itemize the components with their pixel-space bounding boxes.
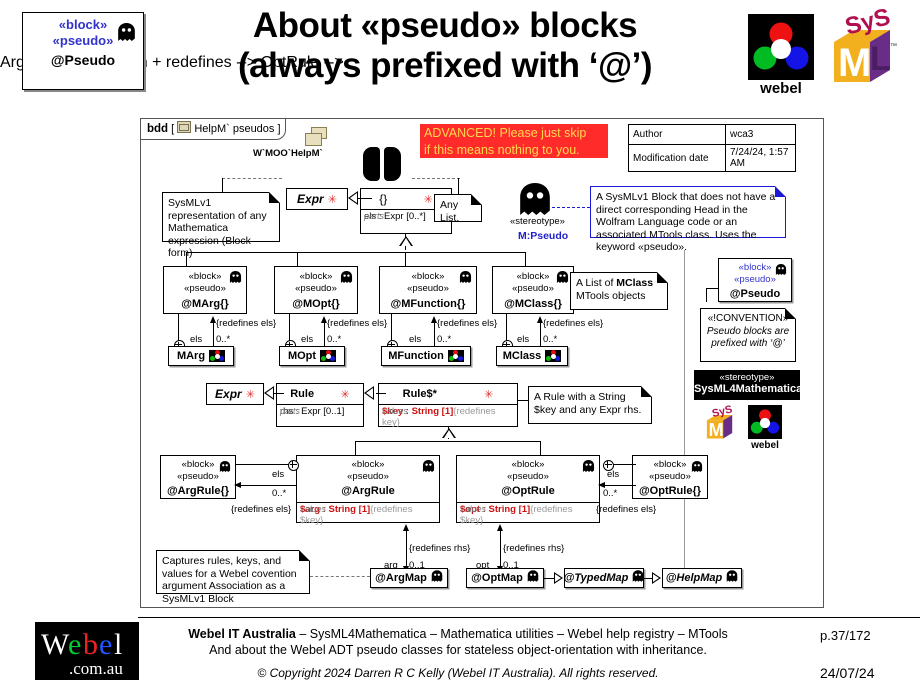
ghost-icon xyxy=(582,459,595,477)
gear-icon: ✳ xyxy=(484,388,493,401)
stereotype-block: «block» xyxy=(297,459,439,471)
webel-footer-logo: W e b e l .com.au xyxy=(35,622,139,680)
arrow-left-icon xyxy=(598,482,605,488)
webel-logo-label: webel xyxy=(748,80,814,97)
block-rule-key[interactable]: Rule$* ✳ values $key : String [1]{redefi… xyxy=(378,383,518,427)
edge-label-els: els xyxy=(409,334,421,345)
svg-text:l: l xyxy=(114,628,122,661)
compartment-label: values xyxy=(300,504,326,514)
edge-label-els: els xyxy=(301,334,313,345)
panel-divider xyxy=(684,250,685,570)
webel-mini-logo-icon xyxy=(320,350,336,362)
anchor-dash-any-list xyxy=(412,178,460,179)
block-name: @MClass{} xyxy=(493,298,573,311)
block-name: Expr xyxy=(297,192,324,206)
advanced-banner-line-1: ADVANCED! Please just skip xyxy=(424,125,604,142)
moo-model-icon xyxy=(305,127,327,147)
arrow-up-icon xyxy=(497,524,503,531)
note-argmap-description: Captures rules, keys, and values for a W… xyxy=(156,550,310,594)
class-name: MOpt xyxy=(288,350,316,362)
note-text: A Rule with a String $key and any Expr r… xyxy=(534,391,641,416)
footer-text: Webel IT Australia – SysML4Mathematica –… xyxy=(148,626,768,658)
stereotype-pseudo: «pseudo» xyxy=(457,471,599,483)
generalization-arrow-fill xyxy=(366,388,373,398)
generalization-branch xyxy=(297,252,298,266)
convention-text: Pseudo blocks are prefixed with ‘@’ xyxy=(706,326,790,351)
generalization-arrow-fill xyxy=(555,574,561,582)
class-mopt[interactable]: MOpt xyxy=(279,346,345,366)
sysml4mathematica-stereotype-badge: «stereotype» SysML4Mathematica xyxy=(694,370,800,400)
generalization-branch xyxy=(525,252,526,266)
edge-rule-to-expr xyxy=(274,393,284,394)
note-text-2: MTools objects xyxy=(576,290,645,302)
diagram-package-name: HelpM` pseudos xyxy=(194,123,274,135)
gear-icon: ✳ xyxy=(328,193,337,206)
bracket-close: ] xyxy=(277,123,280,135)
svg-text:™: ™ xyxy=(890,43,897,50)
legend-right-pseudo-block: «block» «pseudo» @Pseudo xyxy=(718,258,792,302)
webel-logo-label-small: webel xyxy=(744,440,786,451)
values-compartment: values $key : String [1]{redefines key} xyxy=(379,404,517,429)
note-mclass-list: A List of MClass MTools objects xyxy=(570,272,668,310)
legend-block-name: @Pseudo xyxy=(23,52,143,68)
block-name: @OptMap xyxy=(471,572,523,584)
modification-date-value: 7/24/24, 1:57 AM xyxy=(726,145,796,172)
block-optrule-list[interactable]: «block» «pseudo» @OptRule{} xyxy=(632,455,708,499)
class-mclass[interactable]: MClass xyxy=(496,346,568,366)
svg-text:W: W xyxy=(41,628,70,661)
edge-label-redefines-els: {redefines els} xyxy=(596,504,656,515)
generalization-branch xyxy=(186,252,187,266)
arrow-up-icon xyxy=(537,316,543,323)
moo-label: W`MOO`HelpM` xyxy=(253,148,323,159)
webel-logo-icon xyxy=(748,14,814,80)
generalization-branch xyxy=(405,252,406,266)
sysml-logo-icon: M L SyS ™ xyxy=(824,8,902,92)
edge-label-multiplicity: 0..* xyxy=(437,334,451,345)
diagram-kind: bdd xyxy=(147,123,168,135)
author-label: Author xyxy=(629,125,726,145)
block-mfunction-pseudo[interactable]: «block» «pseudo» @MFunction{} xyxy=(379,266,477,314)
brain-icon xyxy=(363,147,401,181)
document-date: 24/07/24 xyxy=(820,665,875,681)
block-rule[interactable]: Rule ✳ parts rhs : Expr [0..1] xyxy=(276,383,364,427)
block-expr-top[interactable]: Expr ✳ xyxy=(286,188,348,210)
block-name: @OptRule xyxy=(457,485,599,498)
stereotype-pseudo: «pseudo» xyxy=(297,471,439,483)
class-mfunction[interactable]: MFunction xyxy=(381,346,471,366)
webel-mini-logo-icon xyxy=(209,350,225,362)
note-rule-description: A Rule with a String $key and any Expr r… xyxy=(528,386,652,424)
ghost-icon xyxy=(726,569,738,587)
webel-mini-logo-icon xyxy=(545,350,561,362)
edge-label-els: els xyxy=(272,469,284,480)
note-text-bold: MClass xyxy=(616,277,653,289)
stereotype-label: «stereotype» xyxy=(510,216,565,227)
footer-subjects: – SysML4Mathematica – Mathematica utilit… xyxy=(296,627,728,641)
sysml-logo-icon-small: M SyS xyxy=(700,405,740,443)
redefines-rhs-line xyxy=(500,528,501,570)
block-optrule[interactable]: «block» «pseudo» @OptRule values $opt : … xyxy=(456,455,600,523)
class-name: MClass xyxy=(503,350,542,362)
edge-label-redefines-els: {redefines els} xyxy=(231,504,291,515)
anchor-line xyxy=(518,400,528,401)
block-name: @HelpMap xyxy=(666,572,723,584)
generalization-arrow-fill xyxy=(653,574,659,582)
block-argrule-list[interactable]: «block» «pseudo» @ArgRule{} xyxy=(160,455,236,499)
block-marg-pseudo[interactable]: «block» «pseudo» @MArg{} xyxy=(163,266,247,314)
webel-logo-icon-small xyxy=(748,405,782,439)
ghost-icon xyxy=(556,270,569,288)
diagram-metadata-table: Author wca3 Modification date 7/24/24, 1… xyxy=(628,124,796,172)
ghost-icon xyxy=(632,569,644,587)
edge-label-redefines-rhs: {redefines rhs} xyxy=(503,543,564,554)
legend-connector xyxy=(706,288,718,289)
pseudo-block-legend: «block» «pseudo» @Pseudo xyxy=(22,12,144,90)
gear-icon: ✳ xyxy=(424,193,433,206)
block-name: @TypedMap xyxy=(564,572,629,584)
footer-line-2: And about the Webel ADT pseudo classes f… xyxy=(148,642,768,658)
edge-label-els: els xyxy=(607,469,619,480)
arrow-up-icon xyxy=(403,524,409,531)
svg-text:.com.au: .com.au xyxy=(69,659,123,678)
ghost-icon xyxy=(229,270,242,288)
ghost-icon xyxy=(117,23,136,46)
stereotype-block: «block» xyxy=(457,459,599,471)
note-stereotype-description: A SysMLv1 Block that does not have a dir… xyxy=(590,186,786,238)
arrow-up-icon xyxy=(210,316,216,323)
bracket-open: [ xyxy=(171,123,174,135)
class-name: MArg xyxy=(177,350,205,362)
block-helpmap[interactable]: @HelpMap xyxy=(662,568,742,588)
ghost-icon xyxy=(422,459,435,477)
edge-label-multiplicity: 0..* xyxy=(216,334,230,345)
ghost-icon xyxy=(431,569,443,587)
ghost-icon xyxy=(691,459,703,477)
compartment-label: values xyxy=(382,406,408,416)
anchor-line xyxy=(222,178,223,192)
generalization-bus xyxy=(355,441,541,442)
edge-label-multiplicity: 0..* xyxy=(327,334,341,345)
svg-text:e: e xyxy=(68,628,81,661)
block-mclass-pseudo[interactable]: «block» «pseudo» @MClass{} xyxy=(492,266,574,314)
composition-marker xyxy=(288,460,299,471)
svg-text:M: M xyxy=(838,41,871,85)
block-mopt-pseudo[interactable]: «block» «pseudo» @MOpt{} xyxy=(274,266,358,314)
svg-text:L: L xyxy=(870,40,891,78)
edge-label-redefines-els: {redefines els} xyxy=(216,318,276,329)
values-compartment: values $opt : String [1]{redefines $key} xyxy=(457,502,599,527)
anchor-dash-sysmlv1 xyxy=(222,178,282,179)
ghost-icon xyxy=(775,262,787,280)
redefines-rhs-line xyxy=(406,528,407,570)
table-row: Modification date 7/24/24, 1:57 AM xyxy=(629,145,796,172)
block-name: {} xyxy=(379,192,387,206)
legend-connector xyxy=(706,288,707,302)
block-name: @ArgRule{} xyxy=(161,485,235,498)
ghost-icon xyxy=(459,270,472,288)
diagram-frame-tab: bdd [ HelpM` pseudos ] xyxy=(140,118,286,140)
page-title: About «pseudo» blocks (always prefixed w… xyxy=(150,6,740,86)
advanced-banner-line-2: if this means nothing to you. xyxy=(424,142,604,159)
anchor-dash-argmap xyxy=(310,576,370,577)
block-argmap[interactable]: @ArgMap xyxy=(370,568,448,588)
copyright-text: © Copyright 2024 Darren R C Kelly (Webel… xyxy=(148,666,768,680)
generalization-arrow-fill xyxy=(350,193,357,203)
title-line-1: About «pseudo» blocks xyxy=(150,6,740,46)
generalization-branch xyxy=(540,441,541,455)
edge-label-redefines-rhs: {redefines rhs} xyxy=(409,543,470,554)
compartment-label: parts xyxy=(364,211,384,221)
block-name: @MOpt{} xyxy=(275,298,357,311)
advanced-warning-banner: ADVANCED! Please just skip if this means… xyxy=(420,124,608,158)
gear-icon: ✳ xyxy=(341,388,350,401)
footer-company: Webel IT Australia xyxy=(188,627,296,641)
package-icon xyxy=(177,121,191,133)
block-name: Rule xyxy=(290,388,314,400)
block-name: Expr xyxy=(215,387,242,401)
page-number: p.37/172 xyxy=(820,628,871,643)
block-name: @ArgMap xyxy=(375,572,427,584)
block-name: Rule$* xyxy=(403,388,437,400)
composition-line xyxy=(236,464,296,465)
note-any-list: Any List. xyxy=(434,194,482,222)
block-typedmap[interactable]: @TypedMap xyxy=(564,568,644,588)
values-compartment: values $arg : String [1]{redefines $key} xyxy=(297,502,439,527)
edge-braces-to-expr xyxy=(358,198,372,199)
svg-text:b: b xyxy=(83,628,98,661)
edge-label-multiplicity: 0..* xyxy=(603,488,617,499)
block-name: @MFunction{} xyxy=(380,298,476,311)
author-value: wca3 xyxy=(726,125,796,145)
block-name: @Pseudo xyxy=(719,288,791,301)
generalization-bus xyxy=(186,252,526,253)
table-row: Author wca3 xyxy=(629,125,796,145)
composition-line xyxy=(612,464,636,465)
footer-divider xyxy=(138,617,920,618)
block-argrule[interactable]: «block» «pseudo» @ArgRule values $arg : … xyxy=(296,455,440,523)
generalization-arrow-fill xyxy=(266,388,273,398)
webel-mini-logo-icon xyxy=(448,350,464,362)
compartment-label: parts xyxy=(280,406,300,416)
edge-label-multiplicity: 0..* xyxy=(543,334,557,345)
edge-label-els: els xyxy=(190,334,202,345)
convention-stereotype: «!CONVENTION» xyxy=(706,313,790,326)
ghost-icon xyxy=(219,459,231,477)
arrow-up-icon xyxy=(431,316,437,323)
note-convention: «!CONVENTION» Pseudo blocks are prefixed… xyxy=(700,308,796,362)
edge-label-redefines-els: {redefines els} xyxy=(543,318,603,329)
badge-stereotype: «stereotype» xyxy=(694,372,800,383)
generalization-arrow-fill xyxy=(444,430,454,438)
arrow-left-icon xyxy=(234,482,241,488)
note-text-1: A List of xyxy=(576,277,616,289)
block-expr-rule[interactable]: Expr ✳ xyxy=(206,383,264,405)
title-line-2: (always prefixed with ‘@’) xyxy=(150,46,740,86)
edge-label-redefines-els: {redefines els} xyxy=(327,318,387,329)
class-name: MFunction xyxy=(388,350,444,362)
redefines-line xyxy=(240,485,296,486)
class-marg[interactable]: MArg xyxy=(168,346,234,366)
ghost-icon xyxy=(340,270,353,288)
block-name: @ArgRule xyxy=(297,485,439,498)
modification-date-label: Modification date xyxy=(629,145,726,172)
block-name: @OptRule{} xyxy=(633,485,707,498)
badge-name: SysML4Mathematica xyxy=(694,383,800,395)
edge-label-multiplicity: 0..* xyxy=(272,488,286,499)
note-text: Any List. xyxy=(440,199,459,224)
svg-text:M: M xyxy=(709,420,724,440)
edge-label-els: els xyxy=(517,334,529,345)
anchor-line xyxy=(458,178,459,194)
ghost-icon-stereotype xyxy=(518,183,552,220)
svg-text:e: e xyxy=(99,628,112,661)
gear-icon: ✳ xyxy=(246,388,255,401)
arrow-up-icon xyxy=(321,316,327,323)
note-sysmlv1-representation: SysMLv1 representation of any Mathematic… xyxy=(162,192,280,242)
edge-label-redefines-els: {redefines els} xyxy=(437,318,497,329)
compartment-label: values xyxy=(460,504,486,514)
parts-compartment: parts rhs : Expr [0..1] xyxy=(277,404,363,418)
stereotype-name: M:Pseudo xyxy=(518,230,568,242)
generalization-arrow-fill xyxy=(401,238,411,246)
generalization-branch xyxy=(355,441,356,455)
footer-line-1: Webel IT Australia – SysML4Mathematica –… xyxy=(148,626,768,642)
edge-rulekey-to-rule xyxy=(376,393,386,394)
anchor-dash-stereotype xyxy=(552,207,590,208)
redefines-line xyxy=(604,485,636,486)
ghost-icon xyxy=(527,569,539,587)
block-optmap[interactable]: @OptMap xyxy=(466,568,544,588)
block-name: @MArg{} xyxy=(164,298,246,311)
